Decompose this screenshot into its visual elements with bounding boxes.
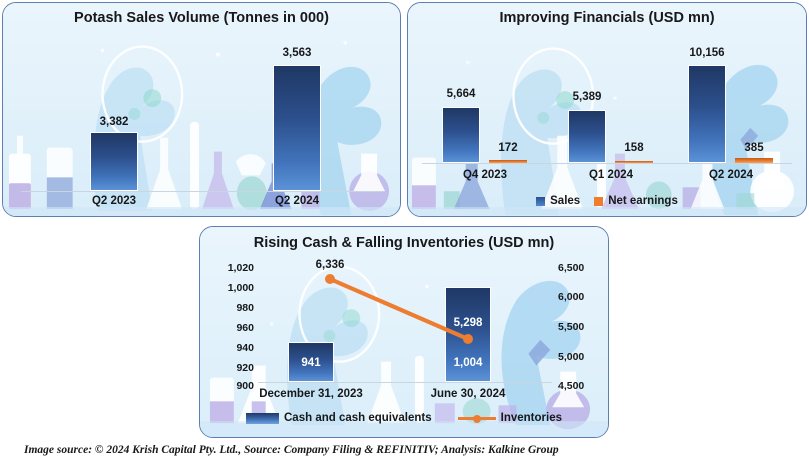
plot-area-potash: 3,382 Q2 2023 3,563 Q2 2024 xyxy=(3,3,400,216)
axis-baseline xyxy=(422,163,792,164)
bar-value-net-earnings-q2-2024: 385 xyxy=(726,142,782,154)
legend-swatch-sales-icon xyxy=(536,197,545,206)
plot-area-cash: 1,020 1,000 980 960 940 920 900 6,500 6,… xyxy=(200,227,608,437)
bar-value-cash-june-30-2024: 1,004 xyxy=(440,357,496,369)
bar-net-earnings-q4-2023[interactable] xyxy=(489,160,527,163)
bar-sales-q4-2023[interactable] xyxy=(442,107,480,163)
legend-label-inventories: Inventories xyxy=(501,412,562,424)
category-label-q2-2024: Q2 2024 xyxy=(262,195,332,207)
chart-legend-cash: Cash and cash equivalents Inventories xyxy=(200,412,608,424)
bar-value-sales-q2-2024: 10,156 xyxy=(677,47,737,59)
category-label-june-30-2024: June 30, 2024 xyxy=(418,388,518,400)
line-value-inventories-december-31-2023: 6,336 xyxy=(300,259,360,271)
left-axis-tick-900: 900 xyxy=(206,380,254,392)
right-axis-tick-5000: 5,000 xyxy=(558,351,606,363)
category-label-q2-2024: Q2 2024 xyxy=(695,169,767,181)
axis-baseline xyxy=(21,191,382,192)
bar-value-sales-q4-2023: 5,664 xyxy=(433,88,489,100)
left-axis-tick-940: 940 xyxy=(206,342,254,354)
image-source-caption: Image source: © 2024 Krish Capital Pty. … xyxy=(24,444,559,456)
page-title: Potash Sales Volume (Tonnes in 000) xyxy=(3,10,400,26)
bar-value-cash-december-31-2023: 941 xyxy=(283,357,339,369)
right-axis-tick-4500: 4,500 xyxy=(558,380,606,392)
chart-panel-rising-cash-falling-inventories: Rising Cash & Falling Inventories (USD m… xyxy=(199,226,609,438)
legend-swatch-cash-icon xyxy=(246,413,279,424)
inventories-line-series[interactable] xyxy=(200,227,609,438)
bar-value-sales-q1-2024: 5,389 xyxy=(559,91,615,103)
bar-net-earnings-q2-2024[interactable] xyxy=(735,158,773,163)
bar-sales-q1-2024[interactable] xyxy=(568,110,606,163)
category-label-december-31-2023: December 31, 2023 xyxy=(256,388,366,400)
legend-label-net-earnings: Net earnings xyxy=(608,195,678,207)
bar-sales-q2-2024[interactable] xyxy=(688,65,726,163)
page-title: Improving Financials (USD mn) xyxy=(408,10,806,26)
left-axis-tick-1000: 1,000 xyxy=(206,282,254,294)
category-label-q2-2023: Q2 2023 xyxy=(79,195,149,207)
chart-legend-financials: Sales Net earnings xyxy=(408,195,806,207)
left-axis-tick-1020: 1,020 xyxy=(206,262,254,274)
chart-panel-improving-financials: Improving Financials (USD mn) 5,664 172 … xyxy=(407,2,807,217)
bar-value-q2-2024: 3,563 xyxy=(267,47,327,59)
right-axis-tick-6500: 6,500 xyxy=(558,262,606,274)
legend-label-cash-and-cash-equivalents: Cash and cash equivalents xyxy=(284,412,432,424)
line-value-inventories-june-30-2024: 5,298 xyxy=(438,317,498,329)
page-title: Rising Cash & Falling Inventories (USD m… xyxy=(200,235,608,251)
left-axis-tick-960: 960 xyxy=(206,322,254,334)
left-axis-tick-920: 920 xyxy=(206,362,254,374)
plot-area-financials: 5,664 172 Q4 2023 5,389 158 Q1 2024 10,1… xyxy=(408,3,806,216)
legend-item-net-earnings[interactable]: Net earnings xyxy=(594,195,678,207)
axis-baseline xyxy=(258,382,552,383)
bar-q2-2024[interactable] xyxy=(273,65,321,191)
chart-panel-potash-sales-volume: Potash Sales Volume (Tonnes in 000) 3,38… xyxy=(2,2,401,217)
right-axis-tick-6000: 6,000 xyxy=(558,291,606,303)
right-axis-tick-5500: 5,500 xyxy=(558,321,606,333)
category-label-q1-2024: Q1 2024 xyxy=(575,169,647,181)
legend-swatch-inventories-line-icon xyxy=(458,413,496,423)
bar-value-net-earnings-q4-2023: 172 xyxy=(480,142,536,154)
legend-item-cash-and-cash-equivalents[interactable]: Cash and cash equivalents xyxy=(246,412,432,424)
bar-value-q2-2023: 3,382 xyxy=(84,116,144,128)
bar-value-net-earnings-q1-2024: 158 xyxy=(606,142,662,154)
left-axis-tick-980: 980 xyxy=(206,302,254,314)
legend-item-inventories[interactable]: Inventories xyxy=(458,412,562,424)
bar-net-earnings-q1-2024[interactable] xyxy=(615,161,653,163)
legend-label-sales: Sales xyxy=(550,195,580,207)
legend-item-sales[interactable]: Sales xyxy=(536,195,580,207)
bar-q2-2023[interactable] xyxy=(90,132,138,191)
legend-swatch-net-earnings-icon xyxy=(594,197,603,206)
category-label-q4-2023: Q4 2023 xyxy=(449,169,521,181)
